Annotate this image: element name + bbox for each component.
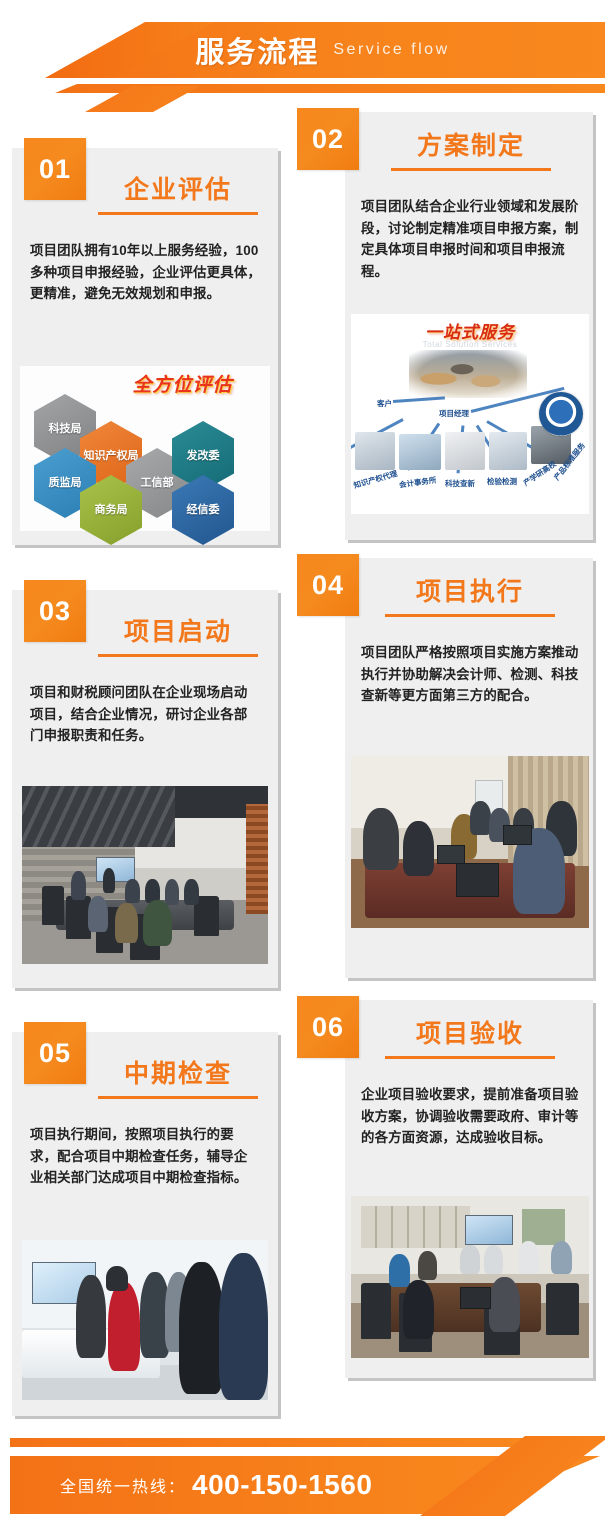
title-underline — [98, 212, 258, 215]
photo-projector-screen — [465, 1215, 513, 1244]
photo-person — [179, 1262, 223, 1393]
photo-person — [518, 1241, 539, 1273]
process-card-04: 04 项目执行 项目团队严格按照项目实施方案推动执行并协助解决会计师、检测、科技… — [345, 558, 593, 978]
hexagon-diagram-title: 全方位评估 — [100, 370, 265, 397]
card-heading-05: 中期检查 — [86, 1054, 270, 1099]
photo-certificate-wall — [361, 1206, 470, 1248]
card-title: 企业评估 — [86, 170, 270, 206]
oss-meeting-photo — [409, 350, 527, 398]
card-photo-06 — [351, 1196, 589, 1358]
step-number-badge: 02 — [297, 108, 359, 170]
photo-chair — [546, 1283, 579, 1335]
oss-node-img-2 — [399, 434, 441, 470]
process-card-02: 02 方案制定 项目团队结合企业行业领域和发展阶段，讨论制定精准项目申报方案，制… — [345, 112, 593, 540]
photo-laptop — [456, 863, 499, 897]
card-heading-01: 企业评估 — [86, 170, 270, 215]
step-number-badge: 04 — [297, 554, 359, 616]
title-underline — [385, 1056, 555, 1059]
photo-person — [460, 1245, 479, 1274]
header-title-group: 服务流程 Service flow — [0, 24, 605, 76]
photo-person — [403, 1280, 434, 1338]
photo-person — [71, 871, 86, 899]
oss-subtitle: Total Solution Services — [351, 340, 589, 349]
photo-person — [76, 1275, 106, 1358]
photo-laptop — [460, 1287, 491, 1310]
card-title: 中期检查 — [86, 1054, 270, 1090]
photo-person — [143, 900, 173, 946]
card-description: 项目团队结合企业行业领域和发展阶段，讨论制定精准项目申报方案，制定具体项目申报时… — [361, 196, 579, 283]
step-number-badge: 01 — [24, 138, 86, 200]
oss-node-label-1: 知识产权代理 — [352, 468, 398, 491]
step-number-badge: 06 — [297, 996, 359, 1058]
photo-laptop — [437, 845, 466, 864]
photo-person — [403, 821, 434, 876]
step-number-badge: 03 — [24, 580, 86, 642]
hotline-number[interactable]: 400-150-1560 — [192, 1469, 372, 1501]
photo-person — [184, 879, 199, 906]
photo-person — [418, 1251, 437, 1280]
process-card-06: 06 项目验收 企业项目验收要求，提前准备项目验收方案，协调验收需要政府、审计等… — [345, 1000, 593, 1378]
card-description: 项目团队严格按照项目实施方案推动执行并协助解决会计师、检测、科技查新等更方面第三… — [361, 642, 579, 707]
page-header: 服务流程 Service flow — [0, 0, 605, 112]
page-footer: 全国统一热线： 400-150-1560 — [0, 1418, 605, 1538]
oss-node-img-4 — [489, 432, 527, 470]
photo-ceiling-pattern — [22, 786, 175, 847]
photo-person — [103, 868, 115, 893]
step-number-badge: 05 — [24, 1022, 86, 1084]
oss-node-label-3: 科技查新 — [445, 478, 475, 489]
card-heading-03: 项目启动 — [86, 612, 270, 657]
page-title: 服务流程 — [195, 29, 319, 71]
hexagon-diagram-figure: 全方位评估 科技局 知识产权局 质监局 工信部 商务局 发改委 经信委 — [20, 366, 270, 531]
footer-stripe — [10, 1438, 570, 1447]
card-title: 方案制定 — [365, 126, 577, 162]
photo-person — [363, 808, 399, 870]
oss-arrow-client — [393, 396, 445, 403]
photo-person — [484, 1245, 503, 1274]
card-title: 项目执行 — [363, 572, 577, 608]
photo-person — [389, 1254, 410, 1286]
title-underline — [98, 1096, 258, 1099]
photo-person — [106, 1266, 128, 1292]
photo-person — [108, 1282, 140, 1372]
oss-node-label-4: 检验检测 — [487, 476, 517, 487]
card-title: 项目验收 — [363, 1014, 577, 1050]
oss-center-label: 项目经理 — [439, 408, 469, 419]
card-photo-04 — [351, 756, 589, 928]
oss-certificate-seal-icon — [539, 392, 583, 436]
card-heading-02: 方案制定 — [365, 126, 577, 171]
oss-client-label: 客户 — [377, 398, 392, 409]
card-heading-04: 项目执行 — [363, 572, 577, 617]
one-stop-service-figure: 一站式服务 Total Solution Services 客户 项目经理 知识… — [351, 314, 589, 514]
photo-chair — [42, 886, 64, 925]
photo-chair — [66, 896, 91, 939]
footer-hotline-group: 全国统一热线： 400-150-1560 — [60, 1456, 372, 1514]
card-heading-06: 项目验收 — [363, 1014, 577, 1059]
page-title-en: Service flow — [333, 41, 449, 59]
photo-chair — [361, 1283, 392, 1338]
photo-person — [165, 879, 180, 906]
photo-green-board — [522, 1209, 565, 1245]
hotline-label: 全国统一热线： — [60, 1473, 186, 1497]
process-card-03: 03 项目启动 项目和财税顾问团队在企业现场启动项目，结合企业情况，研讨企业各部… — [12, 590, 278, 988]
title-underline — [391, 168, 551, 171]
title-underline — [385, 614, 555, 617]
card-description: 项目团队拥有10年以上服务经验，100多种项目申报经验，企业评估更具体，更精准，… — [30, 240, 262, 305]
photo-person — [551, 1241, 572, 1273]
photo-person — [88, 896, 108, 932]
title-underline — [98, 654, 258, 657]
oss-node-img-3 — [445, 432, 485, 470]
photo-person — [489, 1277, 520, 1332]
photo-person — [115, 903, 137, 942]
oss-node-label-2: 会计事务所 — [398, 474, 437, 490]
photo-person — [125, 879, 140, 904]
card-photo-03 — [22, 786, 268, 964]
card-description: 项目执行期间，按照项目执行的要求，配合项目中期检查任务，辅导企业相关部门达成项目… — [30, 1124, 260, 1189]
oss-node-img-1 — [355, 432, 395, 470]
photo-person — [219, 1253, 268, 1400]
card-title: 项目启动 — [86, 612, 270, 648]
photo-laptop — [503, 825, 532, 846]
card-description: 项目和财税顾问团队在企业现场启动项目，结合企业情况，研讨企业各部门申报职责和任务… — [30, 682, 260, 747]
process-card-01: 01 企业评估 项目团队拥有10年以上服务经验，100多种项目申报经验，企业评估… — [12, 148, 278, 545]
card-description: 企业项目验收要求，提前准备项目验收方案，协调验收需要政府、审计等的各方面资源，达… — [361, 1084, 579, 1149]
photo-wood-panel — [246, 804, 268, 914]
card-photo-05 — [22, 1240, 268, 1400]
process-card-05: 05 中期检查 项目执行期间，按照项目执行的要求，配合项目中期检查任务，辅导企业… — [12, 1032, 278, 1416]
